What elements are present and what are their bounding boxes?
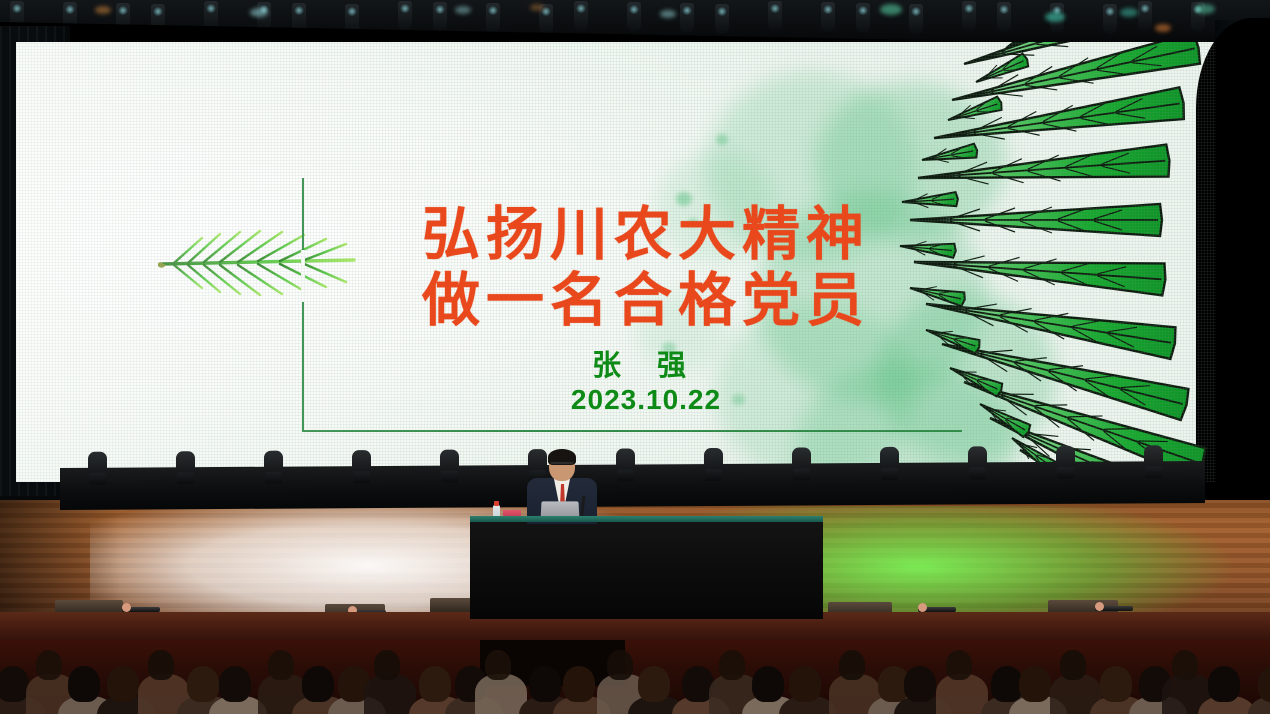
ceiling-light-fixture [680,3,694,33]
ceiling-light-fixture [1138,1,1152,31]
audience-head [219,666,251,702]
audience-head [302,666,334,702]
light-yoke [704,448,723,470]
audience-head [839,650,865,680]
audience-head [1258,666,1270,702]
light-base [441,471,458,483]
slide-frame-gap [301,250,305,302]
moving-head-light [88,452,107,486]
ceiling-light-fixture [715,4,729,34]
rosemary-sprig-svg [158,218,358,310]
light-yoke [1056,446,1075,468]
moving-head-light [1056,446,1075,480]
light-yoke [88,452,107,474]
slide-title-line-1: 弘扬川农大精神 [346,204,946,265]
light-base [1145,466,1162,478]
moving-head-light [264,451,283,485]
audience-shoulders [936,674,988,714]
stage-light-rail [60,461,1205,510]
audience-head [1172,650,1198,680]
audience-head [68,666,100,702]
audience-area [0,640,1270,714]
light-yoke [440,450,459,472]
light-base [1057,467,1074,479]
microphone-base [1095,602,1104,611]
ceiling-light-fixture [1050,3,1064,33]
ceiling-light-glow [95,6,111,14]
ceiling-light-fixture [433,2,447,32]
audience-head [485,650,511,680]
presenter-glasses [551,462,573,468]
audience-head [1060,650,1086,680]
light-yoke [792,447,811,469]
audience-head [1208,666,1240,702]
floor-microphone [1095,602,1133,611]
light-base [353,471,370,483]
led-wall-screen: 弘扬川农大精神 做一名合格党员 张 强 2023.10.22 [16,42,1216,482]
ceiling-light-glow [660,10,676,18]
audience-head [0,666,29,702]
light-base [881,468,898,480]
light-yoke [968,446,987,468]
audience-head [187,666,219,702]
light-yoke [176,451,195,473]
light-base [969,467,986,479]
light-yoke [264,451,283,473]
microphone-base [918,603,927,612]
light-base [89,473,106,485]
ceiling-light-fixture [398,1,412,31]
moving-head-light [352,450,371,484]
audience-head [638,666,670,702]
audience-head [904,666,936,702]
light-base [705,469,722,481]
slide-title-line-2: 做一名合格党员 [346,270,946,331]
audience-head [529,666,561,702]
ceiling-light-glow [1120,8,1138,17]
light-base [617,469,634,481]
moving-head-light [968,446,987,480]
moving-head-light [440,450,459,484]
audience-head [752,666,784,702]
audience-head [719,650,745,680]
moving-head-light [880,447,899,481]
audience-head [607,650,633,680]
moving-head-light [792,447,811,481]
audience-head [374,650,400,680]
ceiling-light-glow [455,6,471,14]
audience-head [1019,666,1051,702]
rosemary-sprig-graphic [158,218,358,310]
audience-head [148,650,174,680]
slide-date: 2023.10.22 [486,384,806,416]
ceiling-light-glow [1155,24,1171,32]
slide-frame-vertical [302,178,304,432]
ceiling-light-fixture [962,1,976,31]
slide-presenter-name: 张 强 [486,342,806,384]
ceiling-light-glow [880,4,902,15]
ceiling-light-fixture [539,4,553,34]
ceiling-light-fixture [909,4,923,34]
moving-head-light [616,448,635,482]
ceiling-light-fixture [574,1,588,31]
presenter-table [470,519,823,619]
light-base [177,472,194,484]
table-top-trim [470,516,823,522]
light-base [793,468,810,480]
microphone-base [122,603,131,612]
auditorium-stage-photo: 弘扬川农大精神 做一名合格党员 张 强 2023.10.22 [0,0,1270,714]
audience-shoulders [364,674,416,714]
audience-head [107,666,139,702]
ceiling-light-fixture [768,1,782,31]
audience-head [563,666,595,702]
light-yoke [1144,445,1163,467]
audience-head [36,650,62,680]
floor-microphone [918,603,956,612]
light-yoke [352,450,371,472]
ceiling-light-fixture [627,2,641,32]
ceiling-light-fixture [856,3,870,33]
moving-head-light [704,448,723,482]
ceiling-light-fixture [1103,4,1117,34]
light-yoke [880,447,899,469]
light-yoke [616,448,635,470]
audience-head [419,666,451,702]
ceiling-light-fixture [821,2,835,32]
audience-head [789,666,821,702]
ceiling-light-fixture [486,3,500,33]
audience-head [1100,666,1132,702]
moving-head-light [1144,445,1163,479]
moving-head-light [176,451,195,485]
audience-head [268,650,294,680]
audience-head [946,650,972,680]
light-base [265,472,282,484]
ceiling-light-fixture [1191,2,1205,32]
floor-microphone [122,603,160,612]
slide-frame-horizontal [302,430,962,432]
ceiling-light-fixture [997,2,1011,32]
